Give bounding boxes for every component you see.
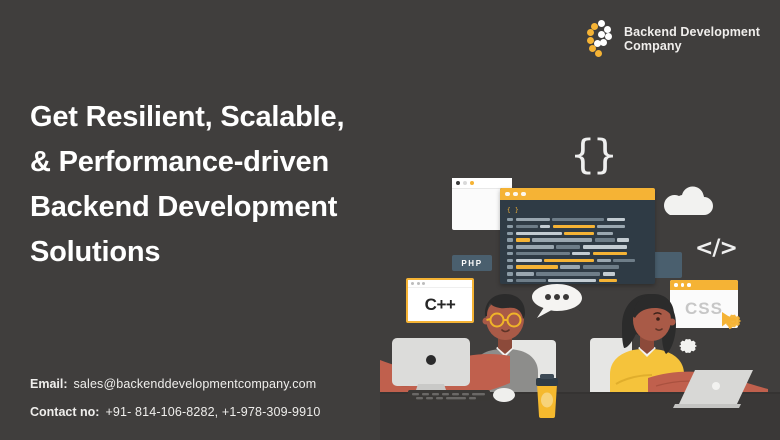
code-token xyxy=(560,265,580,268)
code-token xyxy=(597,225,625,228)
code-token xyxy=(507,279,513,282)
code-token xyxy=(507,238,513,241)
code-line xyxy=(507,218,647,221)
editor-titlebar xyxy=(500,188,655,200)
code-tag-icon: </> xyxy=(695,236,737,261)
code-token xyxy=(507,252,513,255)
headline-line-2: & Performance-driven xyxy=(30,140,430,185)
editor-tag: { } xyxy=(507,207,647,214)
page-title: Get Resilient, Scalable, & Performance-d… xyxy=(30,95,430,275)
phone-row: Contact no: +91- 814-106-8282, +1-978-30… xyxy=(30,398,320,426)
cursor-arrow-icon xyxy=(721,311,739,333)
contact-info: Email: sales@backenddevelopmentcompany.c… xyxy=(30,370,320,426)
code-token xyxy=(507,225,513,228)
code-line-list xyxy=(507,218,647,282)
code-line xyxy=(507,272,647,275)
php-badge: PHP xyxy=(452,255,492,271)
code-token xyxy=(552,218,604,221)
cpp-titlebar xyxy=(408,280,472,288)
email-row: Email: sales@backenddevelopmentcompany.c… xyxy=(30,370,320,398)
code-token xyxy=(595,238,615,241)
curly-braces-icon: {} xyxy=(570,132,615,178)
code-token xyxy=(548,279,596,282)
code-token xyxy=(540,225,550,228)
code-token xyxy=(599,279,617,282)
code-line xyxy=(507,245,647,248)
code-token xyxy=(597,232,613,235)
code-token xyxy=(507,218,513,221)
code-token xyxy=(507,259,513,262)
code-token xyxy=(507,245,513,248)
code-token xyxy=(516,272,534,275)
code-token xyxy=(507,272,513,275)
phone-label: Contact no: xyxy=(30,398,99,426)
hero-illustration: {} </> { } PHP C++ CSS xyxy=(380,0,780,440)
code-token xyxy=(583,265,619,268)
cpp-window[interactable]: C++ xyxy=(406,278,474,323)
code-token xyxy=(607,218,625,221)
code-token xyxy=(516,218,550,221)
code-token xyxy=(556,245,580,248)
code-token xyxy=(516,259,542,262)
code-token xyxy=(572,252,590,255)
hero-banner: Backend Development Company Get Resilien… xyxy=(0,0,780,440)
code-token xyxy=(536,272,600,275)
code-line xyxy=(507,265,647,268)
code-token xyxy=(613,259,635,262)
code-line xyxy=(507,279,647,282)
code-token xyxy=(516,265,558,268)
keyboard-icon xyxy=(408,388,518,404)
code-line xyxy=(507,252,647,255)
email-value[interactable]: sales@backenddevelopmentcompany.com xyxy=(74,370,317,398)
code-token xyxy=(564,232,594,235)
code-token xyxy=(516,245,554,248)
code-token xyxy=(597,259,611,262)
cloud-icon xyxy=(658,186,716,216)
code-token xyxy=(507,232,513,235)
cpp-label: C++ xyxy=(408,288,472,321)
code-token xyxy=(544,259,594,262)
code-line xyxy=(507,259,647,262)
code-editor-window[interactable]: { } xyxy=(500,188,655,284)
code-token xyxy=(516,238,530,241)
headline-line-4: Solutions xyxy=(30,230,430,275)
code-token xyxy=(516,225,538,228)
code-token xyxy=(516,252,570,255)
code-token xyxy=(603,272,615,275)
code-line xyxy=(507,225,647,228)
code-token xyxy=(617,238,629,241)
code-token xyxy=(583,245,627,248)
code-line xyxy=(507,232,647,235)
code-token xyxy=(516,279,546,282)
headline-line-3: Backend Development xyxy=(30,185,430,230)
code-token xyxy=(507,265,513,268)
coffee-cup-icon xyxy=(536,374,558,418)
code-token xyxy=(593,252,627,255)
code-line xyxy=(507,238,647,241)
editor-body: { } xyxy=(500,200,655,292)
code-token xyxy=(532,238,592,241)
code-token xyxy=(516,232,562,235)
code-token xyxy=(553,225,595,228)
headline-line-1: Get Resilient, Scalable, xyxy=(30,95,430,140)
email-label: Email: xyxy=(30,370,68,398)
laptop-icon xyxy=(665,368,755,408)
phone-value[interactable]: +91- 814-106-8282, +1-978-309-9910 xyxy=(105,398,320,426)
